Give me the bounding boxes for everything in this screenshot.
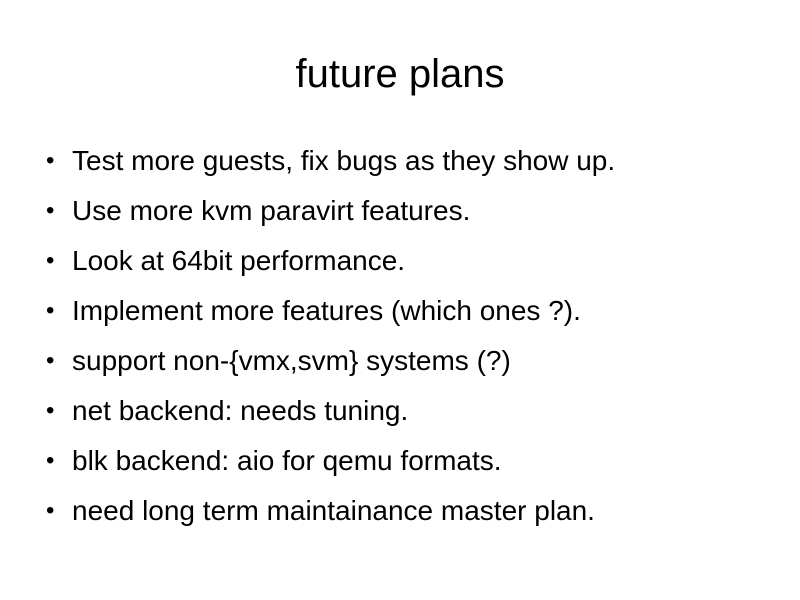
bullet-point-icon: • — [46, 436, 60, 486]
bullet-point-icon: • — [46, 486, 60, 536]
list-item: • Use more kvm paravirt features. — [42, 186, 758, 236]
list-item-label: blk backend: aio for qemu formats. — [72, 445, 502, 476]
bullet-point-icon: • — [46, 286, 60, 336]
bullet-point-icon: • — [46, 236, 60, 286]
list-item-label: Look at 64bit performance. — [72, 245, 405, 276]
list-item-label: support non-{vmx,svm} systems (?) — [72, 345, 511, 376]
bullet-point-icon: • — [46, 386, 60, 436]
presentation-slide: future plans • Test more guests, fix bug… — [0, 0, 800, 600]
list-item-label: Implement more features (which ones ?). — [72, 295, 581, 326]
list-item: • Look at 64bit performance. — [42, 236, 758, 286]
list-item: • Implement more features (which ones ?)… — [42, 286, 758, 336]
list-item: • need long term maintainance master pla… — [42, 486, 758, 536]
bullet-point-icon: • — [46, 186, 60, 236]
bullet-point-icon: • — [46, 336, 60, 386]
list-item: • blk backend: aio for qemu formats. — [42, 436, 758, 486]
list-item-label: net backend: needs tuning. — [72, 395, 408, 426]
list-item: • net backend: needs tuning. — [42, 386, 758, 436]
bullet-point-icon: • — [46, 136, 60, 186]
list-item-label: Use more kvm paravirt features. — [72, 195, 470, 226]
list-item-label: Test more guests, fix bugs as they show … — [72, 145, 615, 176]
list-item-label: need long term maintainance master plan. — [72, 495, 595, 526]
list-item: • support non-{vmx,svm} systems (?) — [42, 336, 758, 386]
bullet-list: • Test more guests, fix bugs as they sho… — [42, 136, 758, 536]
list-item: • Test more guests, fix bugs as they sho… — [42, 136, 758, 186]
page-title: future plans — [0, 50, 800, 98]
